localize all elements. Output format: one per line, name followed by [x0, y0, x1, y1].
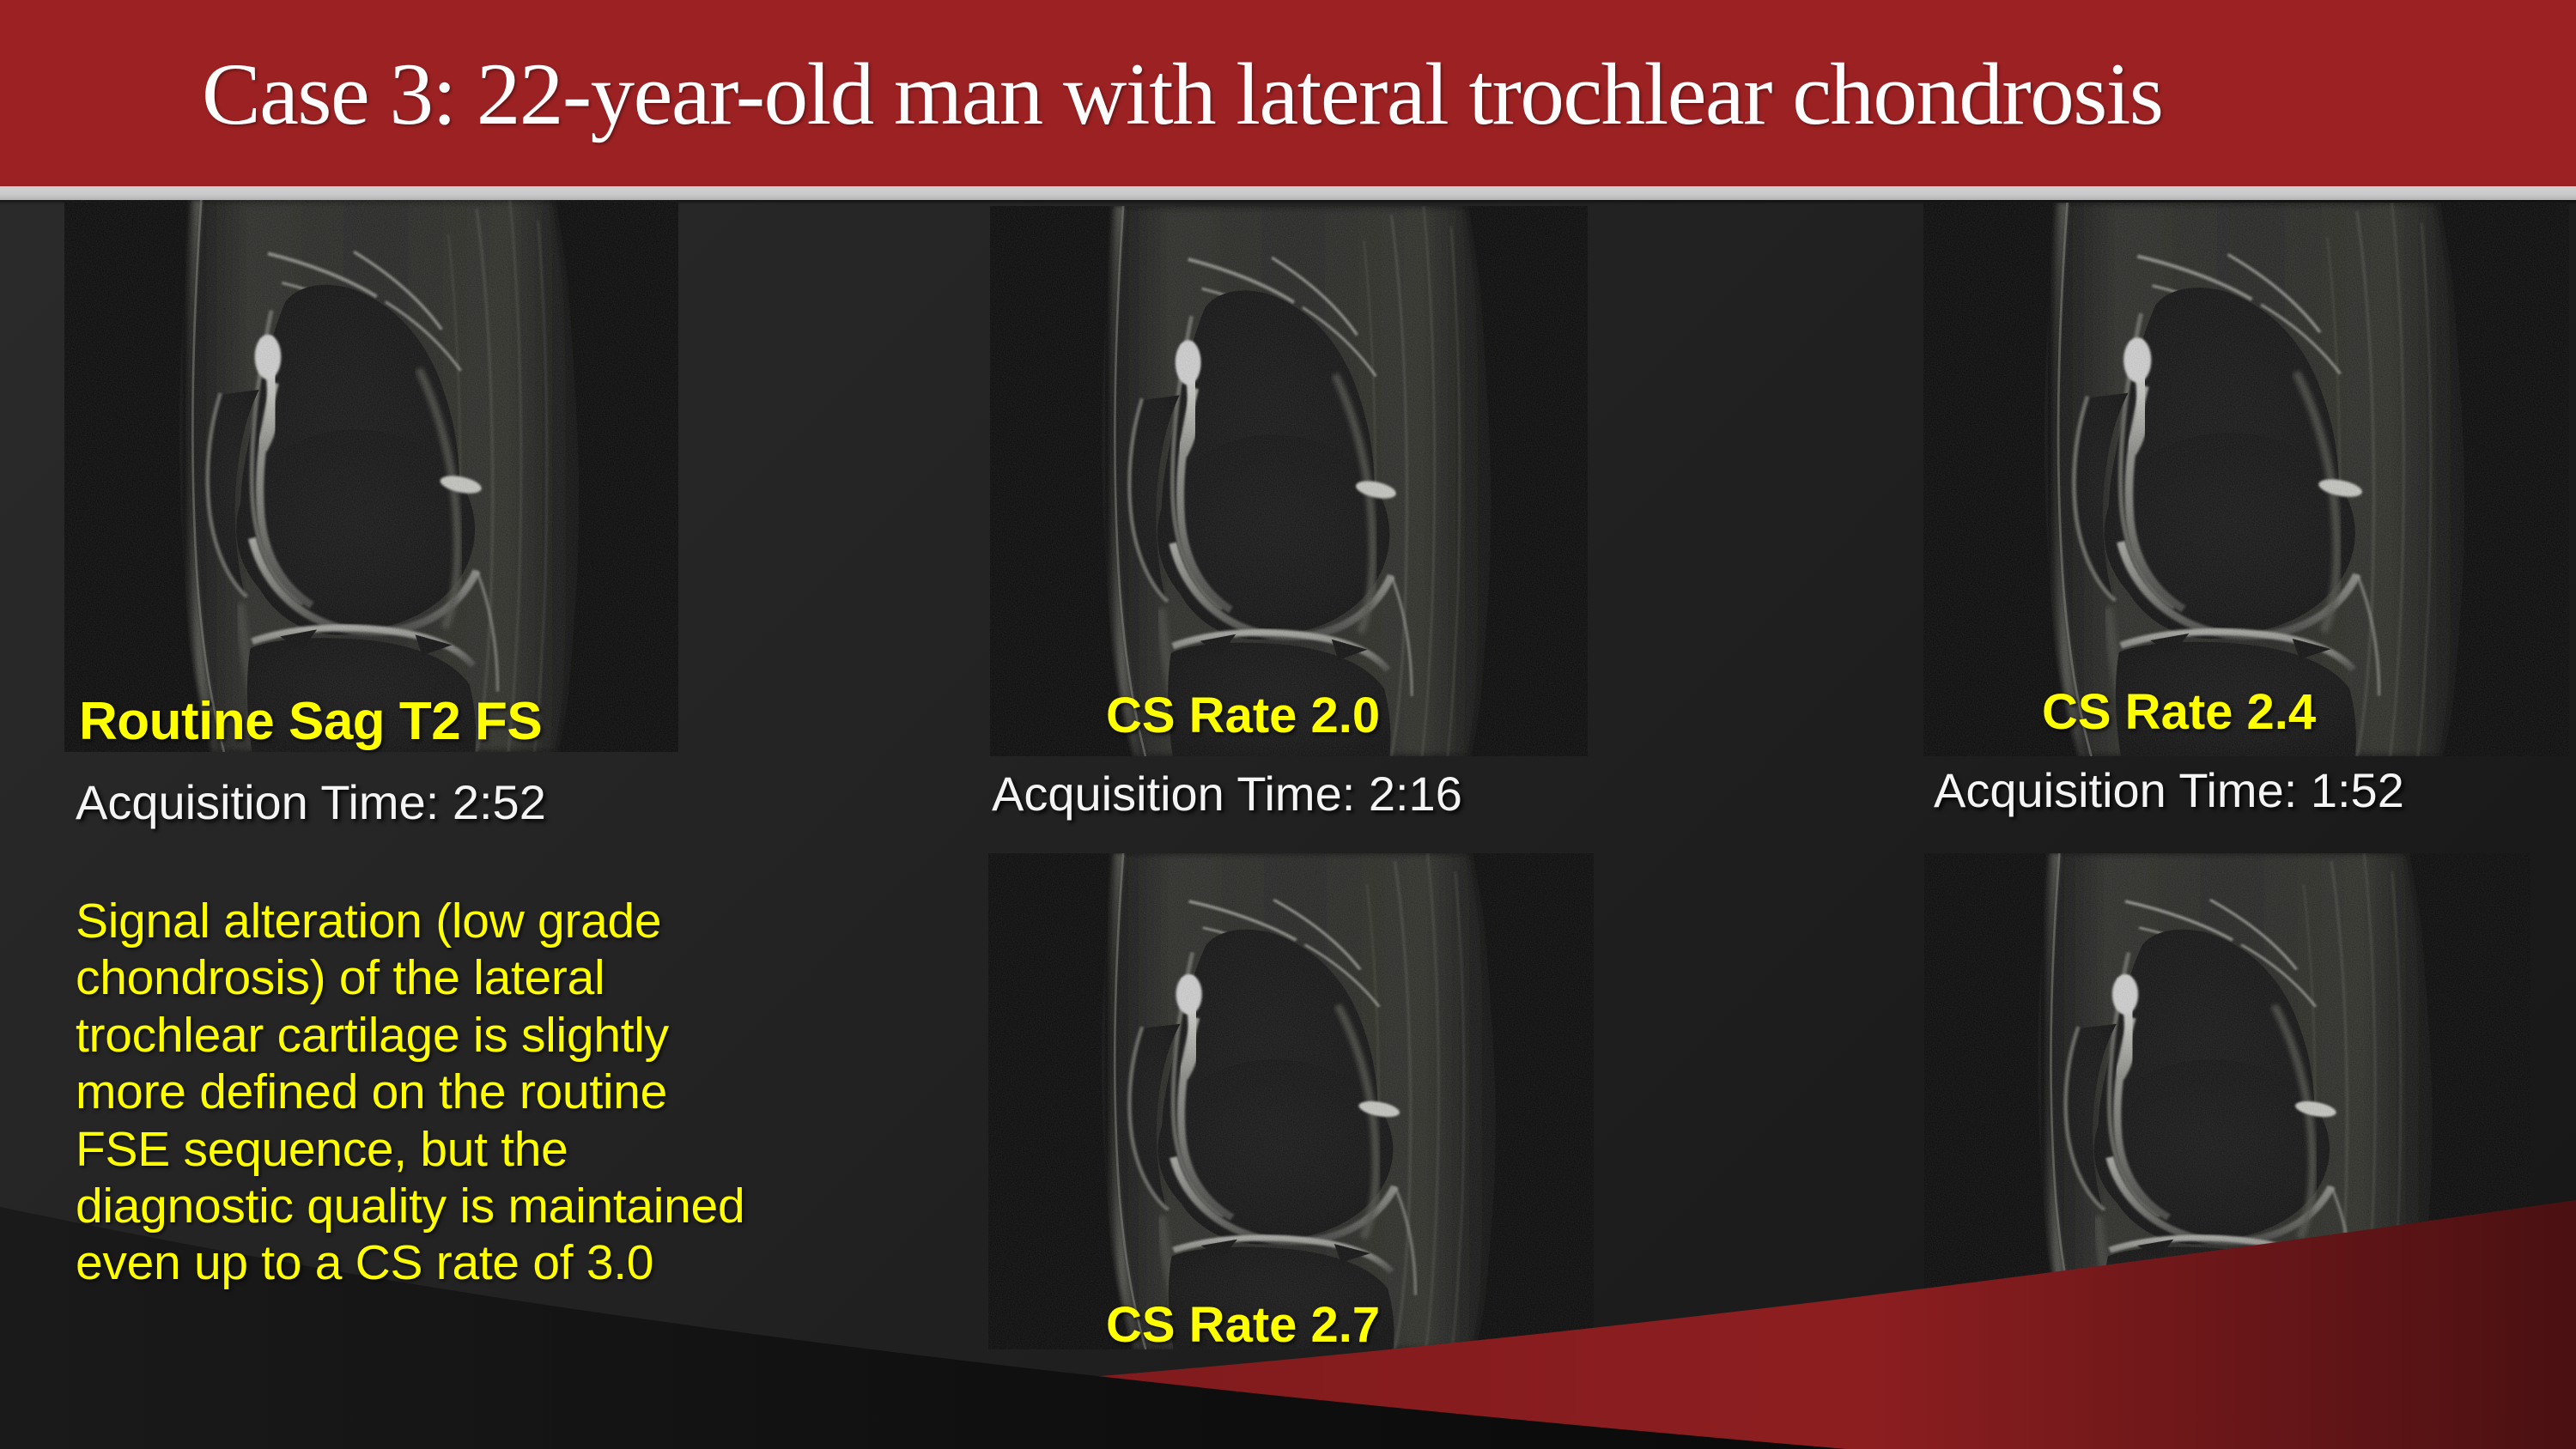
mri-panel-cs20[interactable]	[990, 206, 1588, 756]
body-line: even up to a CS rate of 3.0	[76, 1234, 900, 1291]
caption-cs20: CS Rate 2.0	[1106, 687, 1380, 744]
caption-routine: Routine Sag T2 FS	[79, 691, 542, 752]
mri-panel-routine[interactable]	[64, 200, 678, 752]
acquisition-time-cs20: Acquisition Time: 2:16	[992, 766, 1462, 822]
body-line: trochlear cartilage is slightly	[76, 1007, 900, 1064]
caption-cs27: CS Rate 2.7	[1106, 1296, 1380, 1354]
mri-panel-cs30[interactable]	[1924, 853, 2530, 1349]
mri-panel-cs24[interactable]	[1923, 203, 2569, 756]
acquisition-time-cs30: Acquisition Time: 1:34	[1932, 1372, 2403, 1428]
body-line: diagnostic quality is maintained	[76, 1178, 900, 1234]
mri-image-cs30	[1924, 853, 2530, 1349]
body-line: FSE sequence, but the	[76, 1121, 900, 1178]
acquisition-time-cs27: Acquisition Time: 1:40	[1018, 1375, 1488, 1431]
body-line: chondrosis) of the lateral	[76, 949, 900, 1006]
acquisition-time-routine: Acquisition Time: 2:52	[76, 774, 546, 830]
acquisition-time-cs24: Acquisition Time: 1:52	[1934, 762, 2404, 818]
body-paragraph: Signal alteration (low grade chondrosis)…	[76, 893, 900, 1292]
page-title: Case 3: 22-year-old man with lateral tro…	[202, 17, 2520, 172]
mri-image-cs27	[988, 853, 1594, 1349]
header-divider-rule	[0, 186, 2576, 200]
mri-image-cs20	[990, 206, 1588, 756]
caption-cs30: CS Rate 3.0	[2038, 1294, 2312, 1352]
mri-panel-cs27[interactable]	[988, 853, 1594, 1349]
title-band: Case 3: 22-year-old man with lateral tro…	[0, 0, 2576, 186]
mri-image-cs24	[1923, 203, 2569, 756]
body-line: Signal alteration (low grade	[76, 893, 900, 949]
body-line: more defined on the routine	[76, 1064, 900, 1120]
slide-canvas: Case 3: 22-year-old man with lateral tro…	[0, 0, 2576, 1449]
caption-cs24: CS Rate 2.4	[2042, 683, 2316, 741]
mri-image-routine	[64, 200, 678, 752]
